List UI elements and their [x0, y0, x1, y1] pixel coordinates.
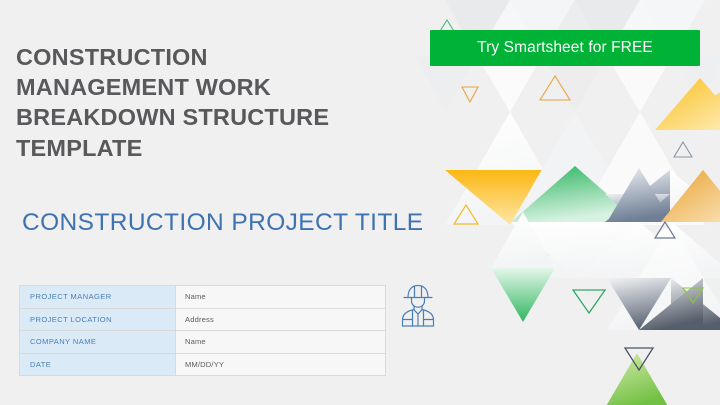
table-row: DATE MM/DD/YY [20, 353, 386, 376]
field-label-project-location: PROJECT LOCATION [20, 308, 176, 331]
project-info-table: PROJECT MANAGER Name PROJECT LOCATION Ad… [19, 285, 386, 376]
field-value-project-manager[interactable]: Name [176, 286, 386, 309]
table-row: COMPANY NAME Name [20, 331, 386, 354]
table-row: PROJECT LOCATION Address [20, 308, 386, 331]
triangle-outline-slate-up-2 [674, 142, 692, 157]
field-label-date: DATE [20, 353, 176, 376]
page-title: CONSTRUCTION MANAGEMENT WORK BREAKDOWN S… [16, 42, 416, 163]
project-title-subheading: CONSTRUCTION PROJECT TITLE [22, 209, 424, 237]
field-value-date[interactable]: MM/DD/YY [176, 353, 386, 376]
slide-canvas: CONSTRUCTION MANAGEMENT WORK BREAKDOWN S… [0, 0, 720, 405]
field-value-company-name[interactable]: Name [176, 331, 386, 354]
triangle-outline-green-down-1 [573, 290, 605, 313]
triangle-lime-main [605, 353, 669, 405]
field-label-project-manager: PROJECT MANAGER [20, 286, 176, 309]
field-value-project-location[interactable]: Address [176, 308, 386, 331]
triangle-outline-orange-down-1 [462, 87, 478, 102]
field-label-company-name: COMPANY NAME [20, 331, 176, 354]
construction-worker-icon [396, 280, 440, 328]
triangle-green-small [491, 268, 555, 322]
try-smartsheet-button[interactable]: Try Smartsheet for FREE [430, 30, 700, 66]
table-row: PROJECT MANAGER Name [20, 286, 386, 309]
